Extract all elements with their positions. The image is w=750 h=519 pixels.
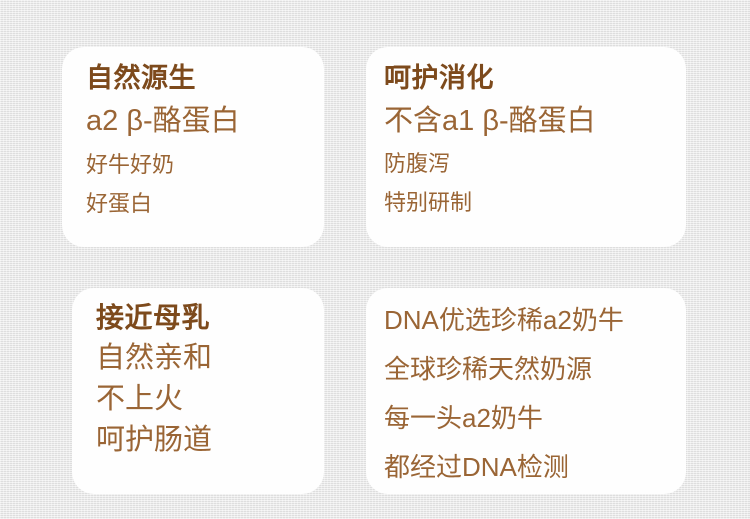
feature-card-digestion: 呵护消化 不含a1 β-酪蛋白 防腹泻 特别研制 xyxy=(366,47,686,247)
card-line-digestion-1: 防腹泻 xyxy=(384,153,596,175)
card-content-breastmilk: 接近母乳 自然亲和 不上火 呵护肠道 xyxy=(96,304,212,455)
feature-card-dna: DNA优选珍稀a2奶牛 全球珍稀天然奶源 每一头a2奶牛 都经过DNA检测 xyxy=(366,288,686,494)
card-line-dna-4: 都经过DNA检测 xyxy=(384,454,624,480)
card-lead-natural-origin: a2 β-酪蛋白 xyxy=(86,107,240,136)
feature-card-breastmilk: 接近母乳 自然亲和 不上火 呵护肠道 xyxy=(72,288,324,494)
card-line-dna-3: 每一头a2奶牛 xyxy=(384,405,624,431)
card-heading-natural-origin: 自然源生 xyxy=(86,65,240,92)
card-lead-digestion: 不含a1 β-酪蛋白 xyxy=(384,107,596,136)
feature-card-grid: 自然源生 a2 β-酪蛋白 好牛好奶 好蛋白 呵护消化 不含a1 β-酪蛋白 防… xyxy=(0,0,750,519)
card-line-breastmilk-1: 自然亲和 xyxy=(96,344,212,373)
card-line-dna-2: 全球珍稀天然奶源 xyxy=(384,356,624,382)
card-line-natural-origin-2: 好蛋白 xyxy=(86,193,240,215)
feature-card-natural-origin: 自然源生 a2 β-酪蛋白 好牛好奶 好蛋白 xyxy=(62,47,324,247)
card-heading-breastmilk: 接近母乳 xyxy=(96,304,212,332)
card-line-breastmilk-3: 呵护肠道 xyxy=(96,426,212,455)
card-line-breastmilk-2: 不上火 xyxy=(96,385,212,414)
card-line-digestion-2: 特别研制 xyxy=(384,192,596,214)
card-content-natural-origin: 自然源生 a2 β-酪蛋白 好牛好奶 好蛋白 xyxy=(86,65,240,215)
card-heading-digestion: 呵护消化 xyxy=(384,65,596,92)
card-line-dna-1: DNA优选珍稀a2奶牛 xyxy=(384,307,624,333)
card-content-dna: DNA优选珍稀a2奶牛 全球珍稀天然奶源 每一头a2奶牛 都经过DNA检测 xyxy=(384,307,624,480)
card-line-natural-origin-1: 好牛好奶 xyxy=(86,154,240,176)
card-content-digestion: 呵护消化 不含a1 β-酪蛋白 防腹泻 特别研制 xyxy=(384,65,596,214)
